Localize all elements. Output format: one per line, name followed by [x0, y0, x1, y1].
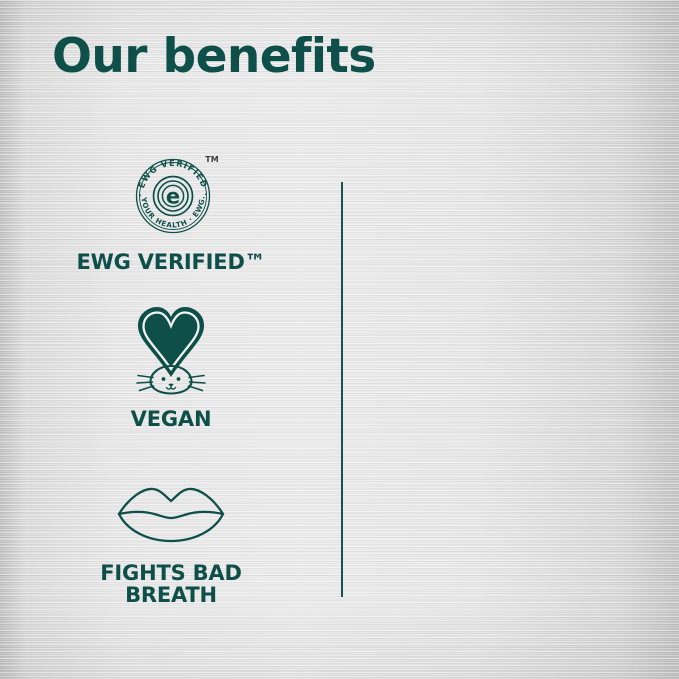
benefit-item-ewg: · EWG VERIFIED · · FOR YOUR HEALTH · EWG…	[28, 146, 314, 273]
benefits-infographic: Our benefits	[0, 0, 679, 679]
benefit-item-vegan: VEGAN	[28, 293, 314, 430]
left-column: · EWG VERIFIED · · FOR YOUR HEALTH · EWG…	[0, 0, 342, 679]
heart-bunny-icon	[119, 293, 223, 397]
benefit-item-bad-breath: FIGHTS BAD BREATH	[28, 478, 314, 607]
trademark-mark: TM	[205, 155, 218, 164]
label-line-2: BREATH	[125, 583, 217, 607]
label-line-1: FIGHTS BAD	[100, 561, 241, 585]
benefit-label-vegan: VEGAN	[131, 408, 212, 430]
benefit-label-bad-breath: FIGHTS BAD BREATH	[100, 562, 241, 607]
ewg-verified-seal-icon: · EWG VERIFIED · · FOR YOUR HEALTH · EWG…	[123, 146, 219, 242]
lips-icon	[113, 478, 229, 546]
svg-text:· FOR YOUR HEALTH · EWG.ORG ·: · FOR YOUR HEALTH · EWG.ORG ·	[123, 146, 207, 230]
right-column: PROTECTS AGAINST CAVITIES	[342, 0, 679, 679]
svg-text:e: e	[166, 185, 180, 209]
benefit-label-ewg: EWG VERIFIED™	[77, 251, 266, 273]
